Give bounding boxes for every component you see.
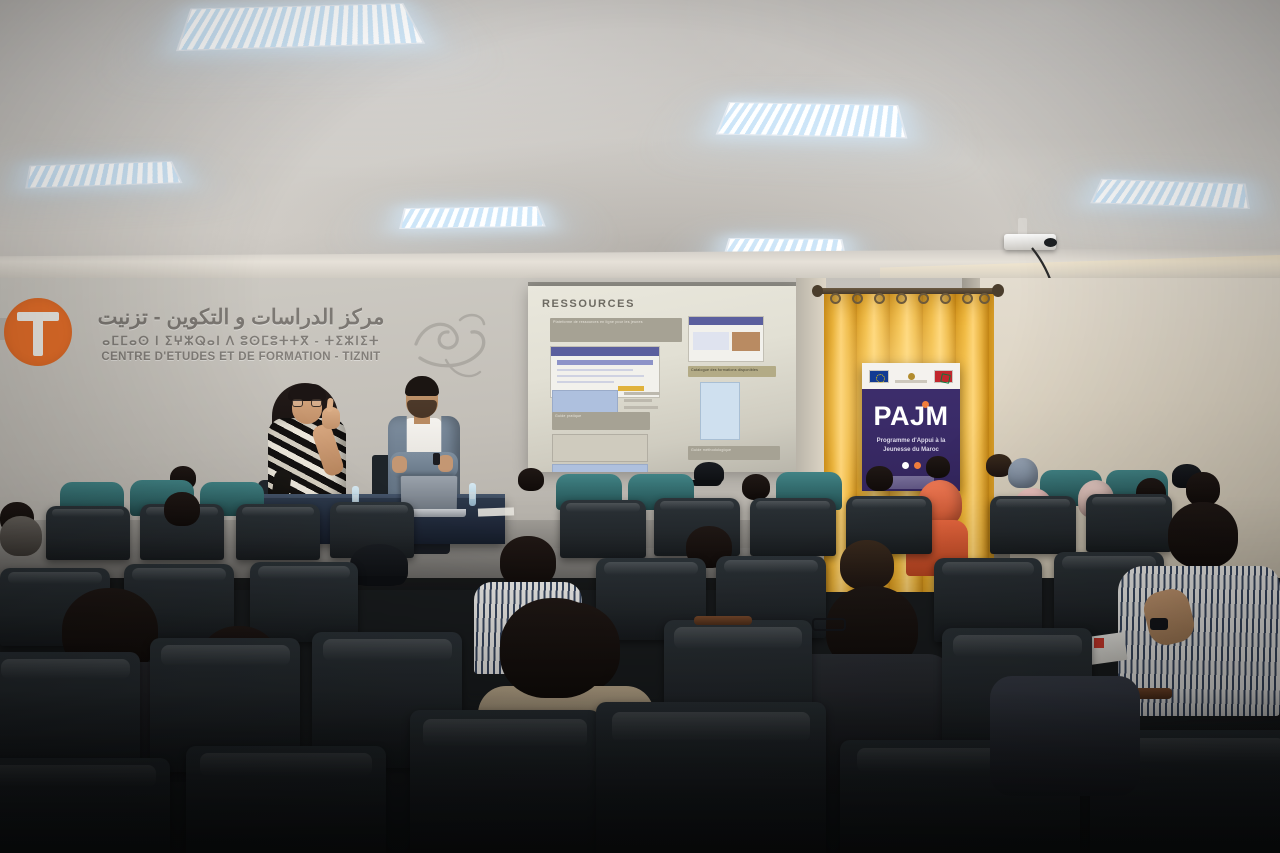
eyeglasses-icon [292, 399, 322, 407]
slide-caption: Guide pratique [552, 412, 650, 430]
seat-armrest [694, 616, 752, 625]
eyeglasses-icon [812, 618, 846, 631]
centre-logo-icon [4, 298, 72, 366]
slide-screenshot [688, 316, 764, 362]
seat[interactable] [750, 498, 836, 556]
audience-head [926, 456, 950, 478]
audience-head [164, 492, 200, 526]
ceiling-light-panel [716, 102, 908, 138]
kingdom-emblem-icon [895, 369, 927, 383]
signage-arabic: مركز الدراسات و التكوين - تزنيت [96, 306, 386, 329]
ceiling-light-panel [399, 206, 546, 229]
audience-head-hijab [1008, 458, 1038, 488]
seat[interactable] [236, 504, 320, 560]
seat[interactable] [410, 710, 600, 853]
seat[interactable] [560, 500, 646, 558]
audience-seating [0, 440, 1280, 853]
audience-head-nearest [500, 598, 608, 698]
curtain-grommets [826, 293, 994, 305]
banner-title: PAJM [862, 403, 960, 430]
slide-caption: Catalogue des formations disponibles [688, 366, 776, 377]
ceiling-light-panel [176, 3, 425, 51]
eu-flag-icon [869, 370, 889, 383]
audience-head [518, 468, 544, 491]
banner-partner-logos [862, 363, 960, 389]
slide-caption: Plateforme de ressources en ligne pour l… [550, 318, 682, 342]
slide-document-thumb [700, 382, 740, 440]
seat[interactable] [250, 562, 358, 642]
seat[interactable] [596, 702, 826, 853]
seat[interactable] [46, 506, 130, 560]
audience-legs [990, 676, 1140, 796]
wall-signage: مركز الدراسات و التكوين - تزنيت ⴰⵎⵎⴰⵙ ⵏ … [96, 306, 386, 363]
signage-french: CENTRE D'ETUDES ET DE FORMATION - TIZNIT [96, 351, 386, 363]
seat[interactable] [0, 758, 170, 853]
document-logo [1094, 638, 1104, 648]
wristwatch-icon [1150, 618, 1168, 630]
audience-head [840, 540, 894, 590]
audience-head [1186, 472, 1220, 506]
signage-tifinagh: ⴰⵎⵎⴰⵙ ⵏ ⵉⵖⵣⵕⴰⵏ ⴷ ⵓⵙⵎⵓⵜⵜⴳ - ⵜⵉⵣⵏⵉⵜ [96, 334, 386, 348]
audience-head-foreground [1168, 502, 1238, 568]
conference-room-photo: مركز الدراسات و التكوين - تزنيت ⴰⵎⵎⴰⵙ ⵏ … [0, 0, 1280, 853]
audience-head [0, 516, 42, 556]
slide-title: RESSOURCES [542, 298, 635, 310]
audience-head [742, 474, 770, 500]
audience-head [866, 466, 893, 491]
audience-head [500, 536, 556, 588]
curtain-rod-finial [812, 285, 823, 297]
morocco-flag-icon [934, 370, 953, 383]
seat[interactable] [1086, 494, 1172, 552]
seat[interactable] [990, 496, 1076, 554]
cap-brim [690, 480, 722, 486]
seat[interactable] [186, 746, 386, 853]
